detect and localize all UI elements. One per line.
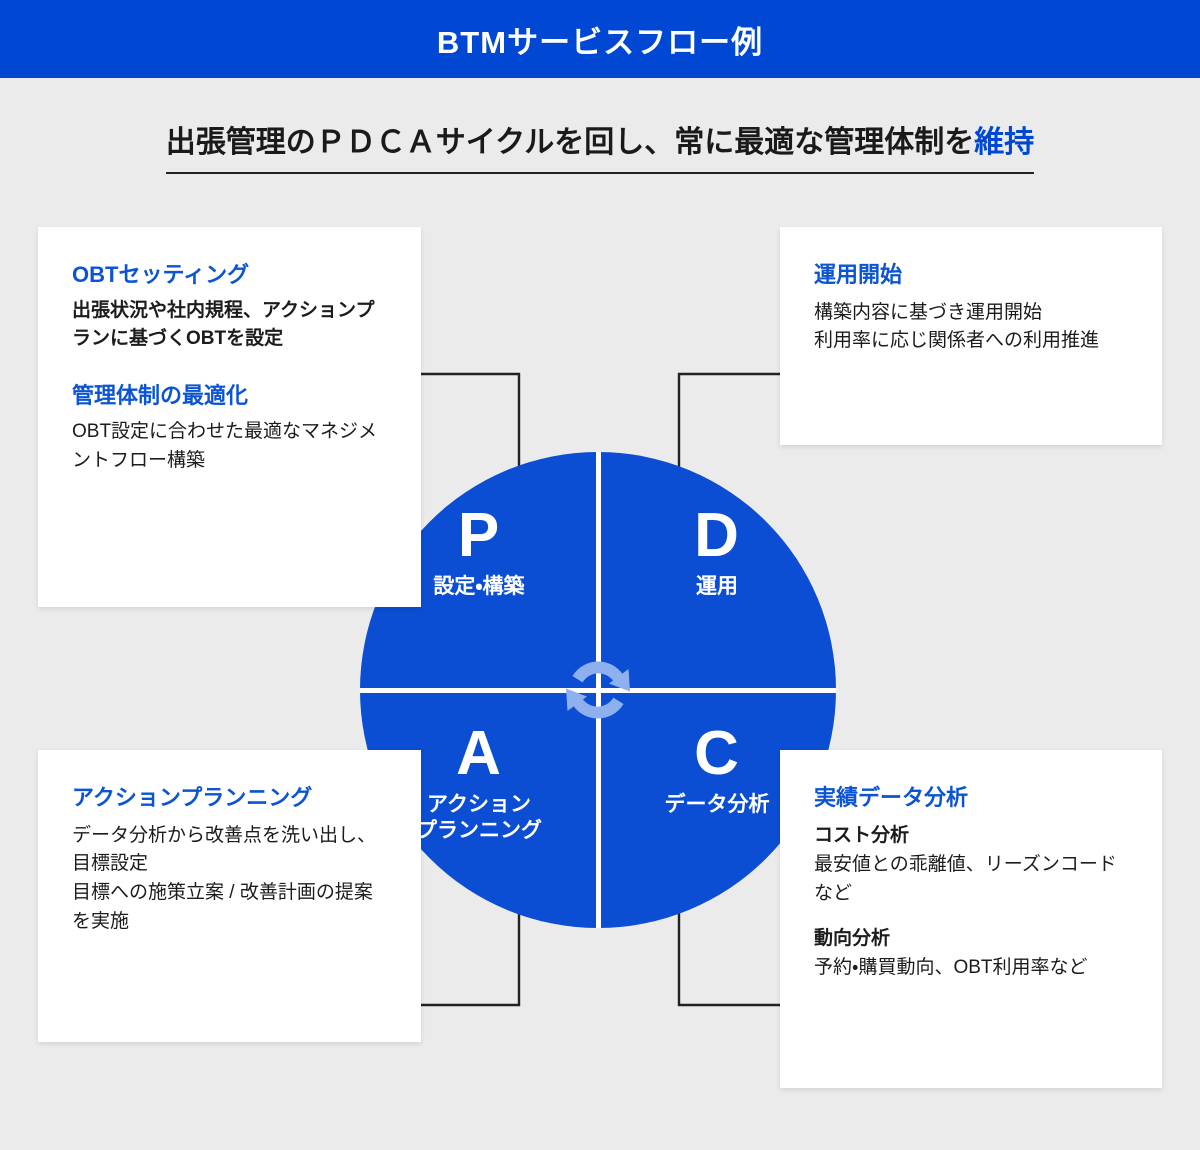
pdca-label-action: アクション プランニング bbox=[416, 792, 542, 843]
card-title: アクションプランニング bbox=[72, 784, 385, 813]
pdca-letter-a: A bbox=[456, 725, 502, 784]
subtitle: 出張管理のＰＤＣＡサイクルを回し、常に最適な管理体制を維持 bbox=[166, 126, 1035, 174]
card-section: 管理体制の最適化 OBT設定に合わせた最適なマネジメントフロー構築 bbox=[72, 382, 385, 475]
pdca-label-check: データ分析 bbox=[665, 792, 770, 818]
card-section: OBTセッティング 出張状況や社内規程、アクションプランに基づくOBTを設定 bbox=[72, 261, 385, 354]
card-body: 構築内容に基づき運用開始 利用率に応じ関係者への利用推進 bbox=[814, 299, 1126, 357]
card-title: 実績データ分析 bbox=[814, 784, 1126, 813]
header-bar: BTMサービスフロー例 bbox=[0, 0, 1200, 78]
card-action-planning[interactable]: アクションプランニング データ分析から改善点を洗い出し、目標設定 目標への施策立… bbox=[38, 750, 421, 1042]
card-operation-start[interactable]: 運用開始 構築内容に基づき運用開始 利用率に応じ関係者への利用推進 bbox=[780, 227, 1162, 445]
card-body: 予約・購買動向、OBT利用率など bbox=[814, 954, 1126, 983]
card-section: アクションプランニング データ分析から改善点を洗い出し、目標設定 目標への施策立… bbox=[72, 784, 385, 937]
card-title: 運用開始 bbox=[814, 261, 1126, 290]
card-title: OBTセッティング bbox=[72, 261, 385, 290]
card-subheading: 動向分析 bbox=[814, 925, 1126, 954]
pdca-letter-d: D bbox=[694, 507, 740, 566]
card-performance-data-analysis[interactable]: 実績データ分析 コスト分析 最安値との乖離値、リーズンコードなど 動向分析 予約… bbox=[780, 750, 1162, 1088]
card-section: 運用開始 構築内容に基づき運用開始 利用率に応じ関係者への利用推進 bbox=[814, 261, 1126, 356]
pdca-letter-c: C bbox=[694, 725, 740, 784]
pdca-circle-diagram: P 設定・構築 D 運用 A アクション プランニング C データ分析 bbox=[360, 452, 836, 928]
card-obt-setting[interactable]: OBTセッティング 出張状況や社内規程、アクションプランに基づくOBTを設定 管… bbox=[38, 227, 421, 607]
card-body: OBT設定に合わせた最適なマネジメントフロー構築 bbox=[72, 418, 385, 476]
card-subsection: 動向分析 予約・購買動向、OBT利用率など bbox=[814, 925, 1126, 983]
cycle-refresh-icon bbox=[558, 650, 638, 730]
card-subheading: コスト分析 bbox=[814, 822, 1126, 851]
pdca-letter-p: P bbox=[458, 507, 500, 566]
subtitle-container: 出張管理のＰＤＣＡサイクルを回し、常に最適な管理体制を維持 bbox=[0, 126, 1200, 174]
card-subsection: コスト分析 最安値との乖離値、リーズンコードなど bbox=[814, 822, 1126, 909]
pdca-label-plan: 設定・構築 bbox=[433, 574, 524, 600]
card-body: 出張状況や社内規程、アクションプランに基づくOBTを設定 bbox=[72, 297, 385, 355]
card-body: 最安値との乖離値、リーズンコードなど bbox=[814, 851, 1126, 909]
pdca-label-do: 運用 bbox=[696, 574, 738, 600]
card-title: 管理体制の最適化 bbox=[72, 382, 385, 411]
subtitle-accent: 維持 bbox=[974, 126, 1034, 159]
page-title: BTMサービスフロー例 bbox=[437, 17, 763, 62]
subtitle-text: 出張管理のＰＤＣＡサイクルを回し、常に最適な管理体制を bbox=[166, 126, 975, 159]
card-body: データ分析から改善点を洗い出し、目標設定 目標への施策立案 / 改善計画の提案を… bbox=[72, 822, 385, 938]
